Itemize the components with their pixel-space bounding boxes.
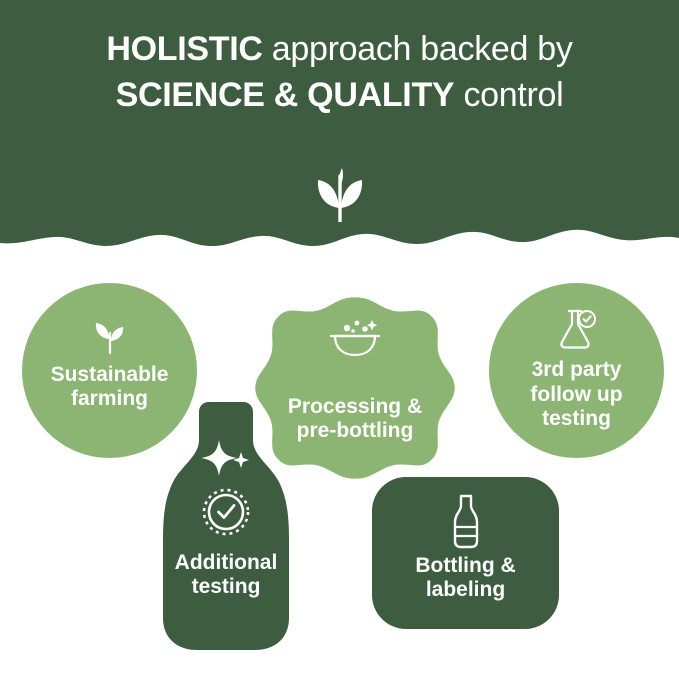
step-third-party-testing[interactable]: 3rd party follow up testing	[489, 283, 664, 458]
step-bottling-labeling[interactable]: Bottling & labeling	[372, 477, 559, 629]
step-label: Bottling & labeling	[372, 554, 559, 603]
step-label: Additional testing	[135, 551, 317, 600]
mixing-bowl-icon	[327, 314, 383, 358]
headline-line-2-rest: control	[454, 76, 563, 114]
step-label-line-1: Bottling &	[415, 554, 515, 577]
flask-check-icon	[555, 307, 599, 351]
step-label-line-2: pre-bottling	[297, 419, 414, 442]
step-label-line-1: Processing &	[288, 395, 422, 418]
seedling-icon	[90, 317, 130, 357]
step-label-line-2: farming	[71, 387, 148, 410]
step-label-line-3: testing	[542, 407, 611, 430]
step-label: Processing & pre-bottling	[250, 395, 460, 444]
torn-paper-edge-bottom	[0, 627, 679, 679]
badge-check-icon	[189, 434, 263, 542]
step-label-line-2: labeling	[426, 578, 505, 601]
headline-line-2: SCIENCE & QUALITY control	[0, 72, 679, 118]
headline-line-1-rest: approach backed by	[263, 30, 573, 68]
headline-line-1-bold: HOLISTIC	[106, 30, 262, 68]
infographic-poster: HOLISTIC approach backed by SCIENCE & QU…	[0, 0, 679, 679]
torn-paper-edge-top	[0, 212, 679, 272]
step-label-line-1: Sustainable	[51, 363, 169, 386]
step-label-line-1: Additional	[175, 551, 278, 574]
headline-line-1: HOLISTIC approach backed by	[0, 26, 679, 72]
step-label: 3rd party follow up testing	[489, 358, 664, 432]
bottle-icon	[446, 493, 486, 551]
step-label-line-1: 3rd party	[532, 358, 622, 381]
step-label-line-2: testing	[192, 575, 261, 598]
headline-line-2-bold: SCIENCE & QUALITY	[116, 76, 455, 114]
page-title: HOLISTIC approach backed by SCIENCE & QU…	[0, 26, 679, 118]
step-label-line-2: follow up	[530, 383, 622, 406]
step-label: Sustainable farming	[22, 363, 197, 412]
